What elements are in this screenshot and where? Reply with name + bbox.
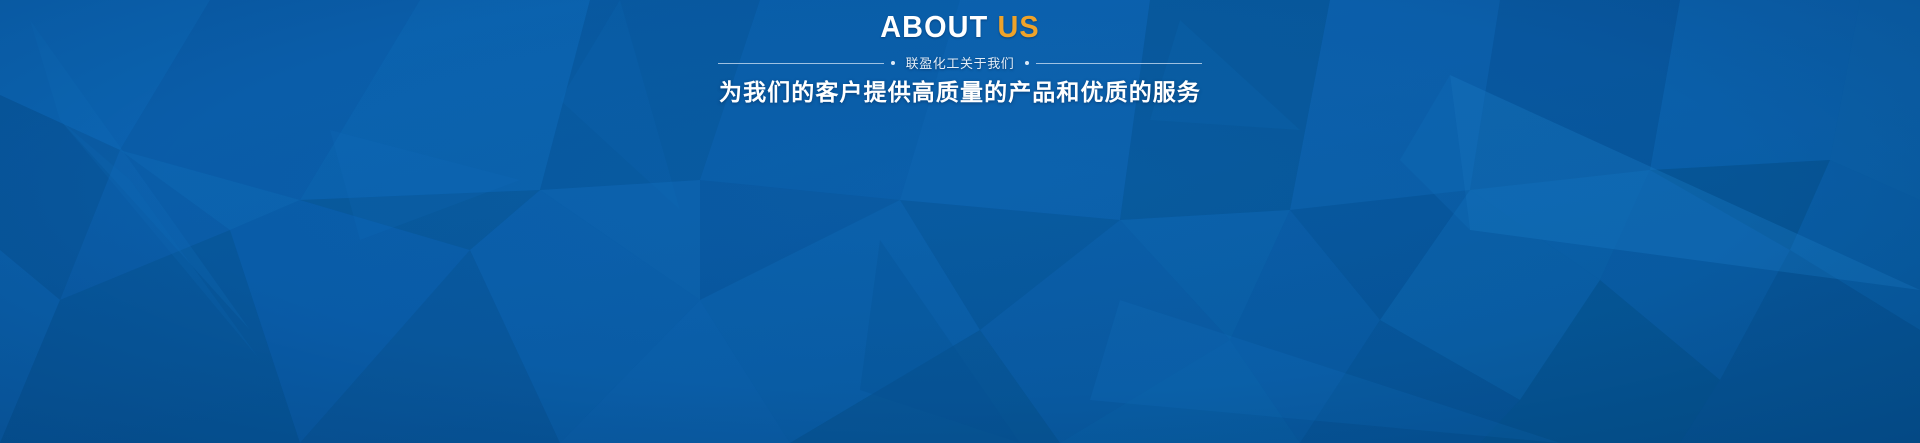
banner-content: ABOUT US 联盈化工关于我们 为我们的客户提供高质量的产品和优质的服务 [0, 0, 1920, 107]
divider-line-left [718, 63, 884, 64]
page-headline: 为我们的客户提供高质量的产品和优质的服务 [0, 79, 1920, 107]
divider-dot-left [891, 61, 895, 65]
title-word-about: ABOUT [880, 9, 988, 44]
page-title-english: ABOUT US [67, 11, 1853, 42]
divider-line-right [1036, 63, 1202, 64]
about-us-banner: ABOUT US 联盈化工关于我们 为我们的客户提供高质量的产品和优质的服务 [0, 0, 1920, 443]
divider-dot-right [1025, 61, 1029, 65]
subtitle-row: 联盈化工关于我们 [0, 56, 1920, 70]
page-subtitle: 联盈化工关于我们 [902, 57, 1019, 70]
title-word-us: US [997, 9, 1039, 44]
